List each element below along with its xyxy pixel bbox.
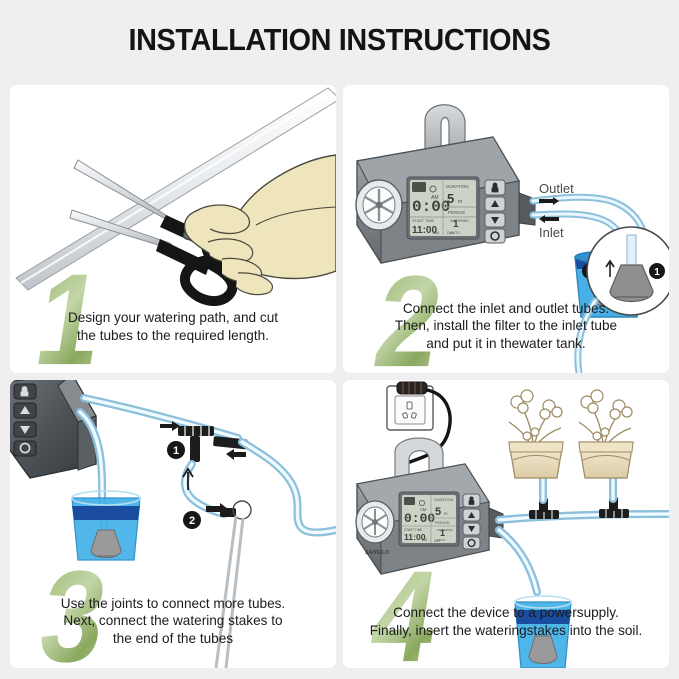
svg-text:AUTO: AUTO [450, 231, 460, 235]
power-button [485, 229, 505, 243]
step-3-caption-line-1: Use the joints to connect more tubes. [24, 595, 322, 613]
page-title: INSTALLATION INSTRUCTIONS [24, 22, 655, 58]
outlet-tube-3 [84, 398, 238, 438]
step-2-caption-line-1: Connect the inlet and outlet tubes. [357, 300, 655, 318]
step-panel-4: SAIYEILO AM 0:00 DURATION [343, 380, 669, 668]
svg-text:m: m [458, 199, 462, 205]
svg-text:AUTO: AUTO [437, 538, 446, 542]
rotary-dial [356, 180, 402, 230]
joint-badge: 1 [173, 445, 179, 457]
step-2-caption: Connect the inlet and outlet tubes. Then… [343, 300, 669, 353]
step-1-caption-line-2: the tubes to the required length. [24, 327, 322, 345]
inlet-label: Inlet [539, 225, 564, 240]
step-panel-1: 1 Design your watering path, and cut the… [10, 85, 336, 373]
svg-text:START TIME: START TIME [412, 219, 435, 223]
svg-text:PERIOD: PERIOD [448, 210, 465, 215]
svg-text:PERIOD: PERIOD [435, 521, 450, 525]
rotary-dial-4 [356, 501, 394, 543]
step-3-caption-line-3: the end of the tubes [24, 630, 322, 648]
lock-icon-3 [21, 387, 28, 397]
timer-device: AM 0:00 DURATION 5 m PERIOD 1 DAY START … [356, 137, 535, 263]
step-panel-3: 1 [10, 380, 336, 668]
svg-text:AM: AM [422, 538, 427, 542]
return-arrow [226, 449, 246, 460]
step-4-caption-line-2: Finally, insert the wateringstakes into … [357, 622, 655, 640]
svg-text:5: 5 [447, 191, 454, 206]
svg-text:DURATION: DURATION [434, 498, 454, 502]
steps-grid: 1 Design your watering path, and cut the… [10, 85, 669, 670]
step-3-caption-line-2: Next, connect the watering stakes to [24, 612, 322, 630]
inlet-tube-4 [499, 530, 537, 592]
lcd-screen-4: AM 0:00 DURATION 5 m PERIOD 1 DAY START … [399, 492, 459, 546]
lock-icon [492, 183, 498, 192]
battery-icon [412, 182, 426, 192]
step-2-caption-line-2: Then, install the filter to the inlet tu… [357, 317, 655, 335]
svg-text:m: m [444, 511, 448, 516]
svg-text:AM: AM [433, 230, 439, 235]
step-3-caption: Use the joints to connect more tubes. Ne… [10, 595, 336, 648]
main-supply-tube [499, 514, 669, 520]
lcd-screen: AM 0:00 DURATION 5 m PERIOD 1 DAY START … [407, 177, 479, 239]
filter-callout-badge: 1 [654, 267, 660, 278]
power-plug [397, 382, 427, 394]
potted-plant-right [579, 390, 633, 478]
lock-icon-4 [469, 497, 474, 505]
device-buttons [485, 180, 505, 243]
step-2-caption-line-3: and put it in thewater tank. [357, 335, 655, 353]
svg-text:DURATION: DURATION [446, 184, 469, 189]
step-1-caption-line-1: Design your watering path, and cut [24, 309, 322, 327]
step-1-caption: Design your watering path, and cut the t… [10, 309, 336, 344]
stake-badge: 2 [189, 515, 195, 527]
infographic-page: INSTALLATION INSTRUCTIONS [0, 0, 679, 679]
svg-text:5: 5 [435, 506, 441, 518]
step-panel-2: AM 0:00 DURATION 5 m PERIOD 1 DAY START … [343, 85, 669, 373]
step-4-caption-line-1: Connect the device to a powersupply. [357, 604, 655, 622]
step-4-caption: Connect the device to a powersupply. Fin… [343, 604, 669, 639]
potted-plant-left [509, 390, 563, 478]
power-button-4 [463, 537, 480, 549]
flow-arrows [539, 197, 559, 223]
svg-text:WATERING: WATERING [450, 219, 469, 223]
outlet-label: Outlet [539, 181, 574, 196]
wavy-tube-3 [242, 442, 336, 533]
svg-text:WATERING: WATERING [437, 528, 453, 532]
